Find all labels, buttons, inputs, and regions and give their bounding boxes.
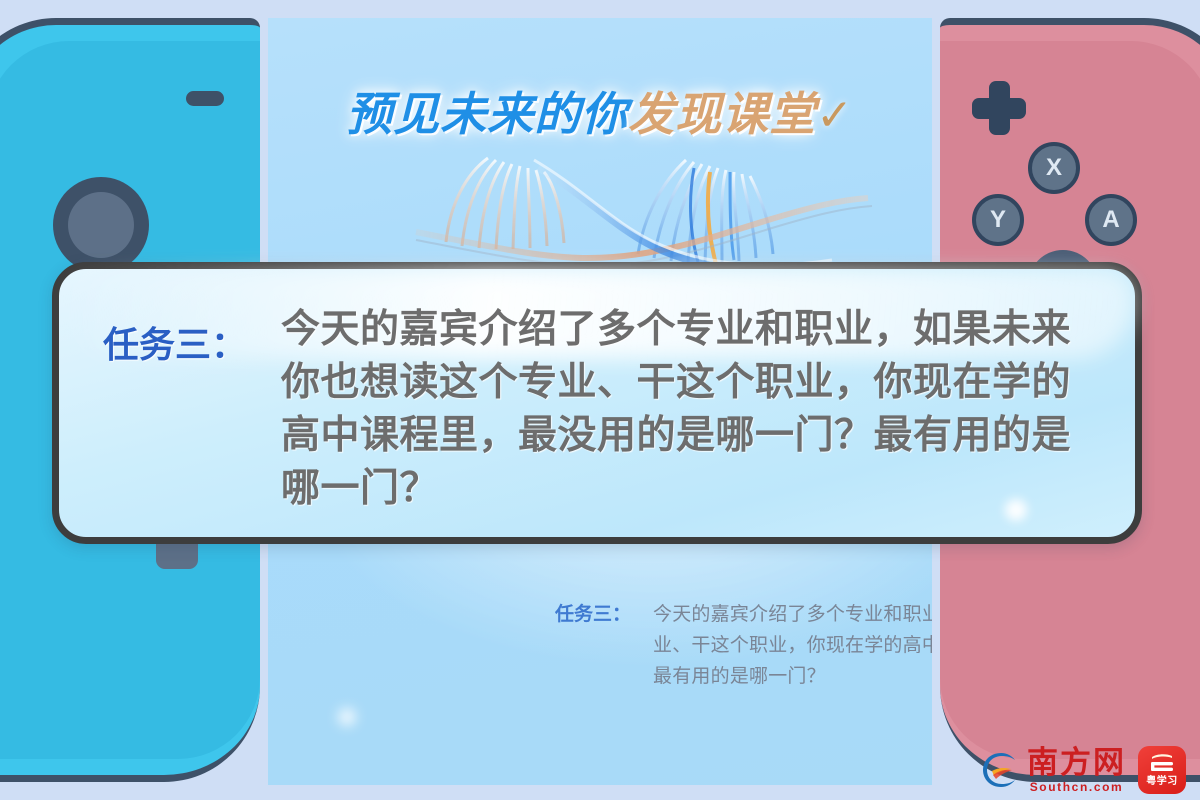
title-blue-part: 预见未来的你 [346,88,628,140]
caption-block: 任务三： 今天的嘉宾介绍了多个专业和职业，如果未来你也想读这个专业、干这个职业，… [555,600,932,692]
screen-glow-dot-2 [338,708,356,726]
southcn-wordmark: 南方网 Southcn.com [1027,747,1126,794]
dna-helix-graphic [338,146,878,281]
logo-bar: 南方网 Southcn.com 粤学习 [980,746,1186,794]
page-title: 预见未来的你发现课堂✓ [268,78,932,144]
plus-button[interactable] [972,81,1026,135]
caption-body: 今天的嘉宾介绍了多个专业和职业，如果未来你也想读这个专业、干这个职业，你现在学的… [653,600,932,692]
left-analog-stick[interactable] [53,177,149,273]
yuexuexi-book-icon [1147,753,1177,775]
caption-label: 任务三： [555,600,653,629]
southcn-swirl-icon [980,749,1022,791]
x-button[interactable]: X [1028,142,1080,194]
southcn-domain: Southcn.com [1030,780,1124,794]
yuexuexi-badge-label: 粤学习 [1146,777,1178,787]
title-gold-part: 发现课堂 [628,88,816,140]
task-card: 任务三： 今天的嘉宾介绍了多个专业和职业，如果未来你也想读这个专业、干这个职业，… [52,262,1142,544]
southcn-logo: 南方网 Southcn.com [980,747,1126,794]
checkmark-icon: ✓ [816,91,854,140]
yuexuexi-app-icon[interactable]: 粤学习 [1138,746,1186,794]
y-button[interactable]: Y [972,194,1024,246]
a-button[interactable]: A [1085,194,1137,246]
minus-button[interactable] [186,91,224,106]
task-body: 今天的嘉宾介绍了多个专业和职业，如果未来你也想读这个专业、干这个职业，你现在学的… [281,303,1099,515]
southcn-chinese-name: 南方网 [1027,747,1126,778]
task-label: 任务三： [85,303,281,365]
console-illustration: 预见未来的你发现课堂✓ 任务三： 今天的嘉宾介绍了多个专业和职业，如果未来你也想… [0,0,1200,800]
card-tab-handle[interactable] [156,543,198,569]
